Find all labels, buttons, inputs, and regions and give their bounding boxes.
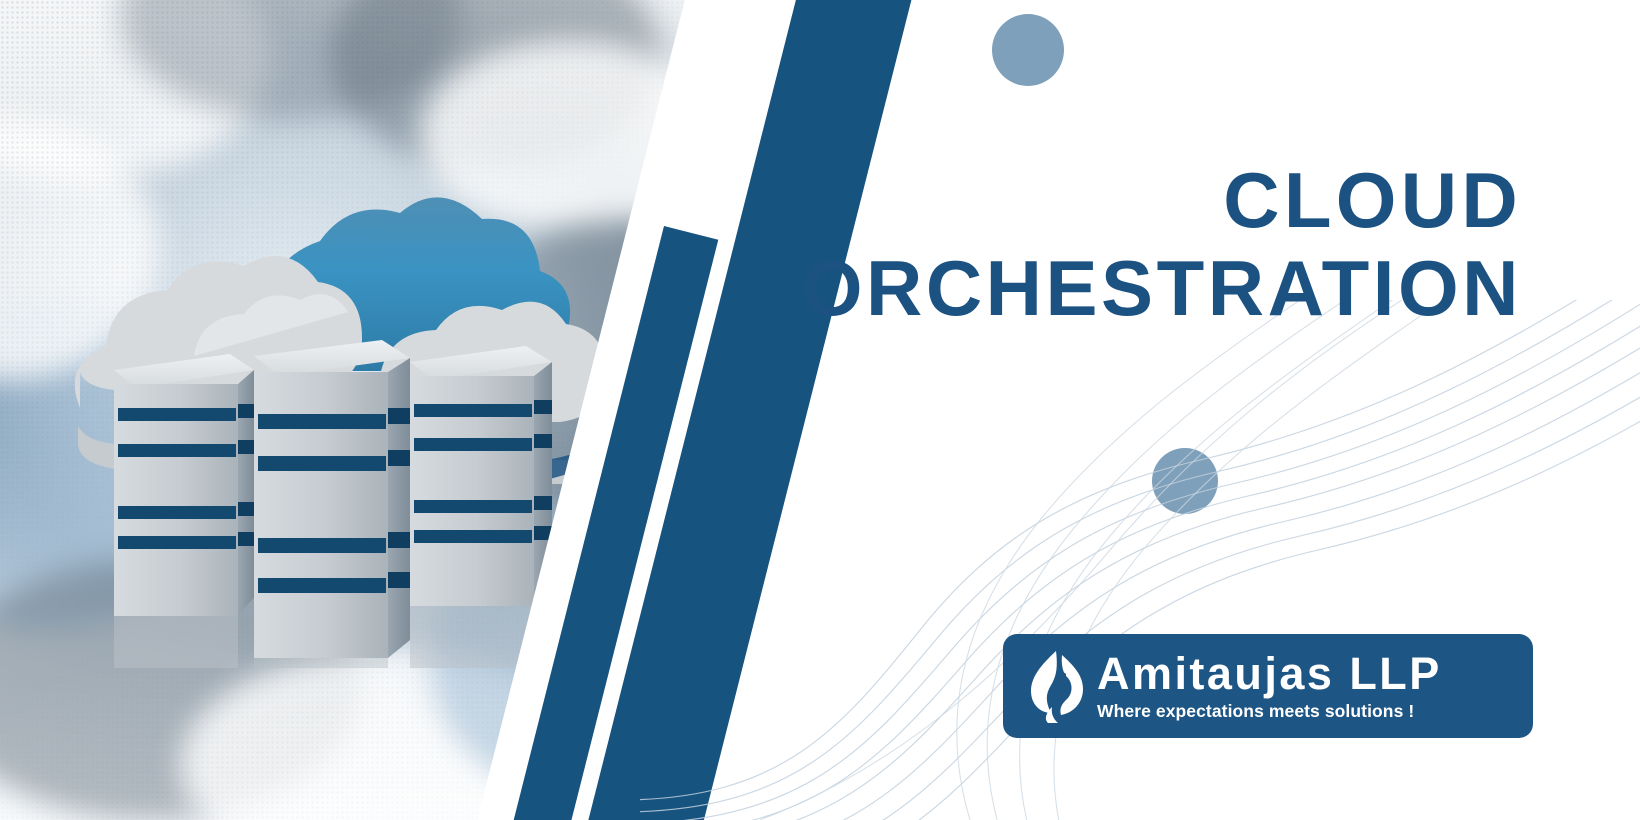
headline-line-1: CLOUD [802, 162, 1522, 238]
decorative-circle-middle [1152, 448, 1218, 514]
cloud-orchestration-banner: CLOUD ORCHESTRATION Amitaujas LLP Where … [0, 0, 1640, 820]
decorative-circle-top [992, 14, 1064, 86]
flame-bird-icon [1029, 649, 1091, 723]
logo-company-name: Amitaujas LLP [1097, 651, 1442, 696]
server-rack [114, 354, 254, 668]
cloud-server-illustration [18, 108, 598, 668]
server-rack-group [114, 340, 552, 668]
page-title: CLOUD ORCHESTRATION [802, 162, 1522, 327]
headline-line-2: ORCHESTRATION [802, 250, 1522, 326]
logo-text-block: Amitaujas LLP Where expectations meets s… [1097, 651, 1442, 721]
logo-tagline: Where expectations meets solutions ! [1097, 703, 1442, 721]
server-rack [254, 340, 410, 668]
logo-badge[interactable]: Amitaujas LLP Where expectations meets s… [1003, 634, 1533, 738]
